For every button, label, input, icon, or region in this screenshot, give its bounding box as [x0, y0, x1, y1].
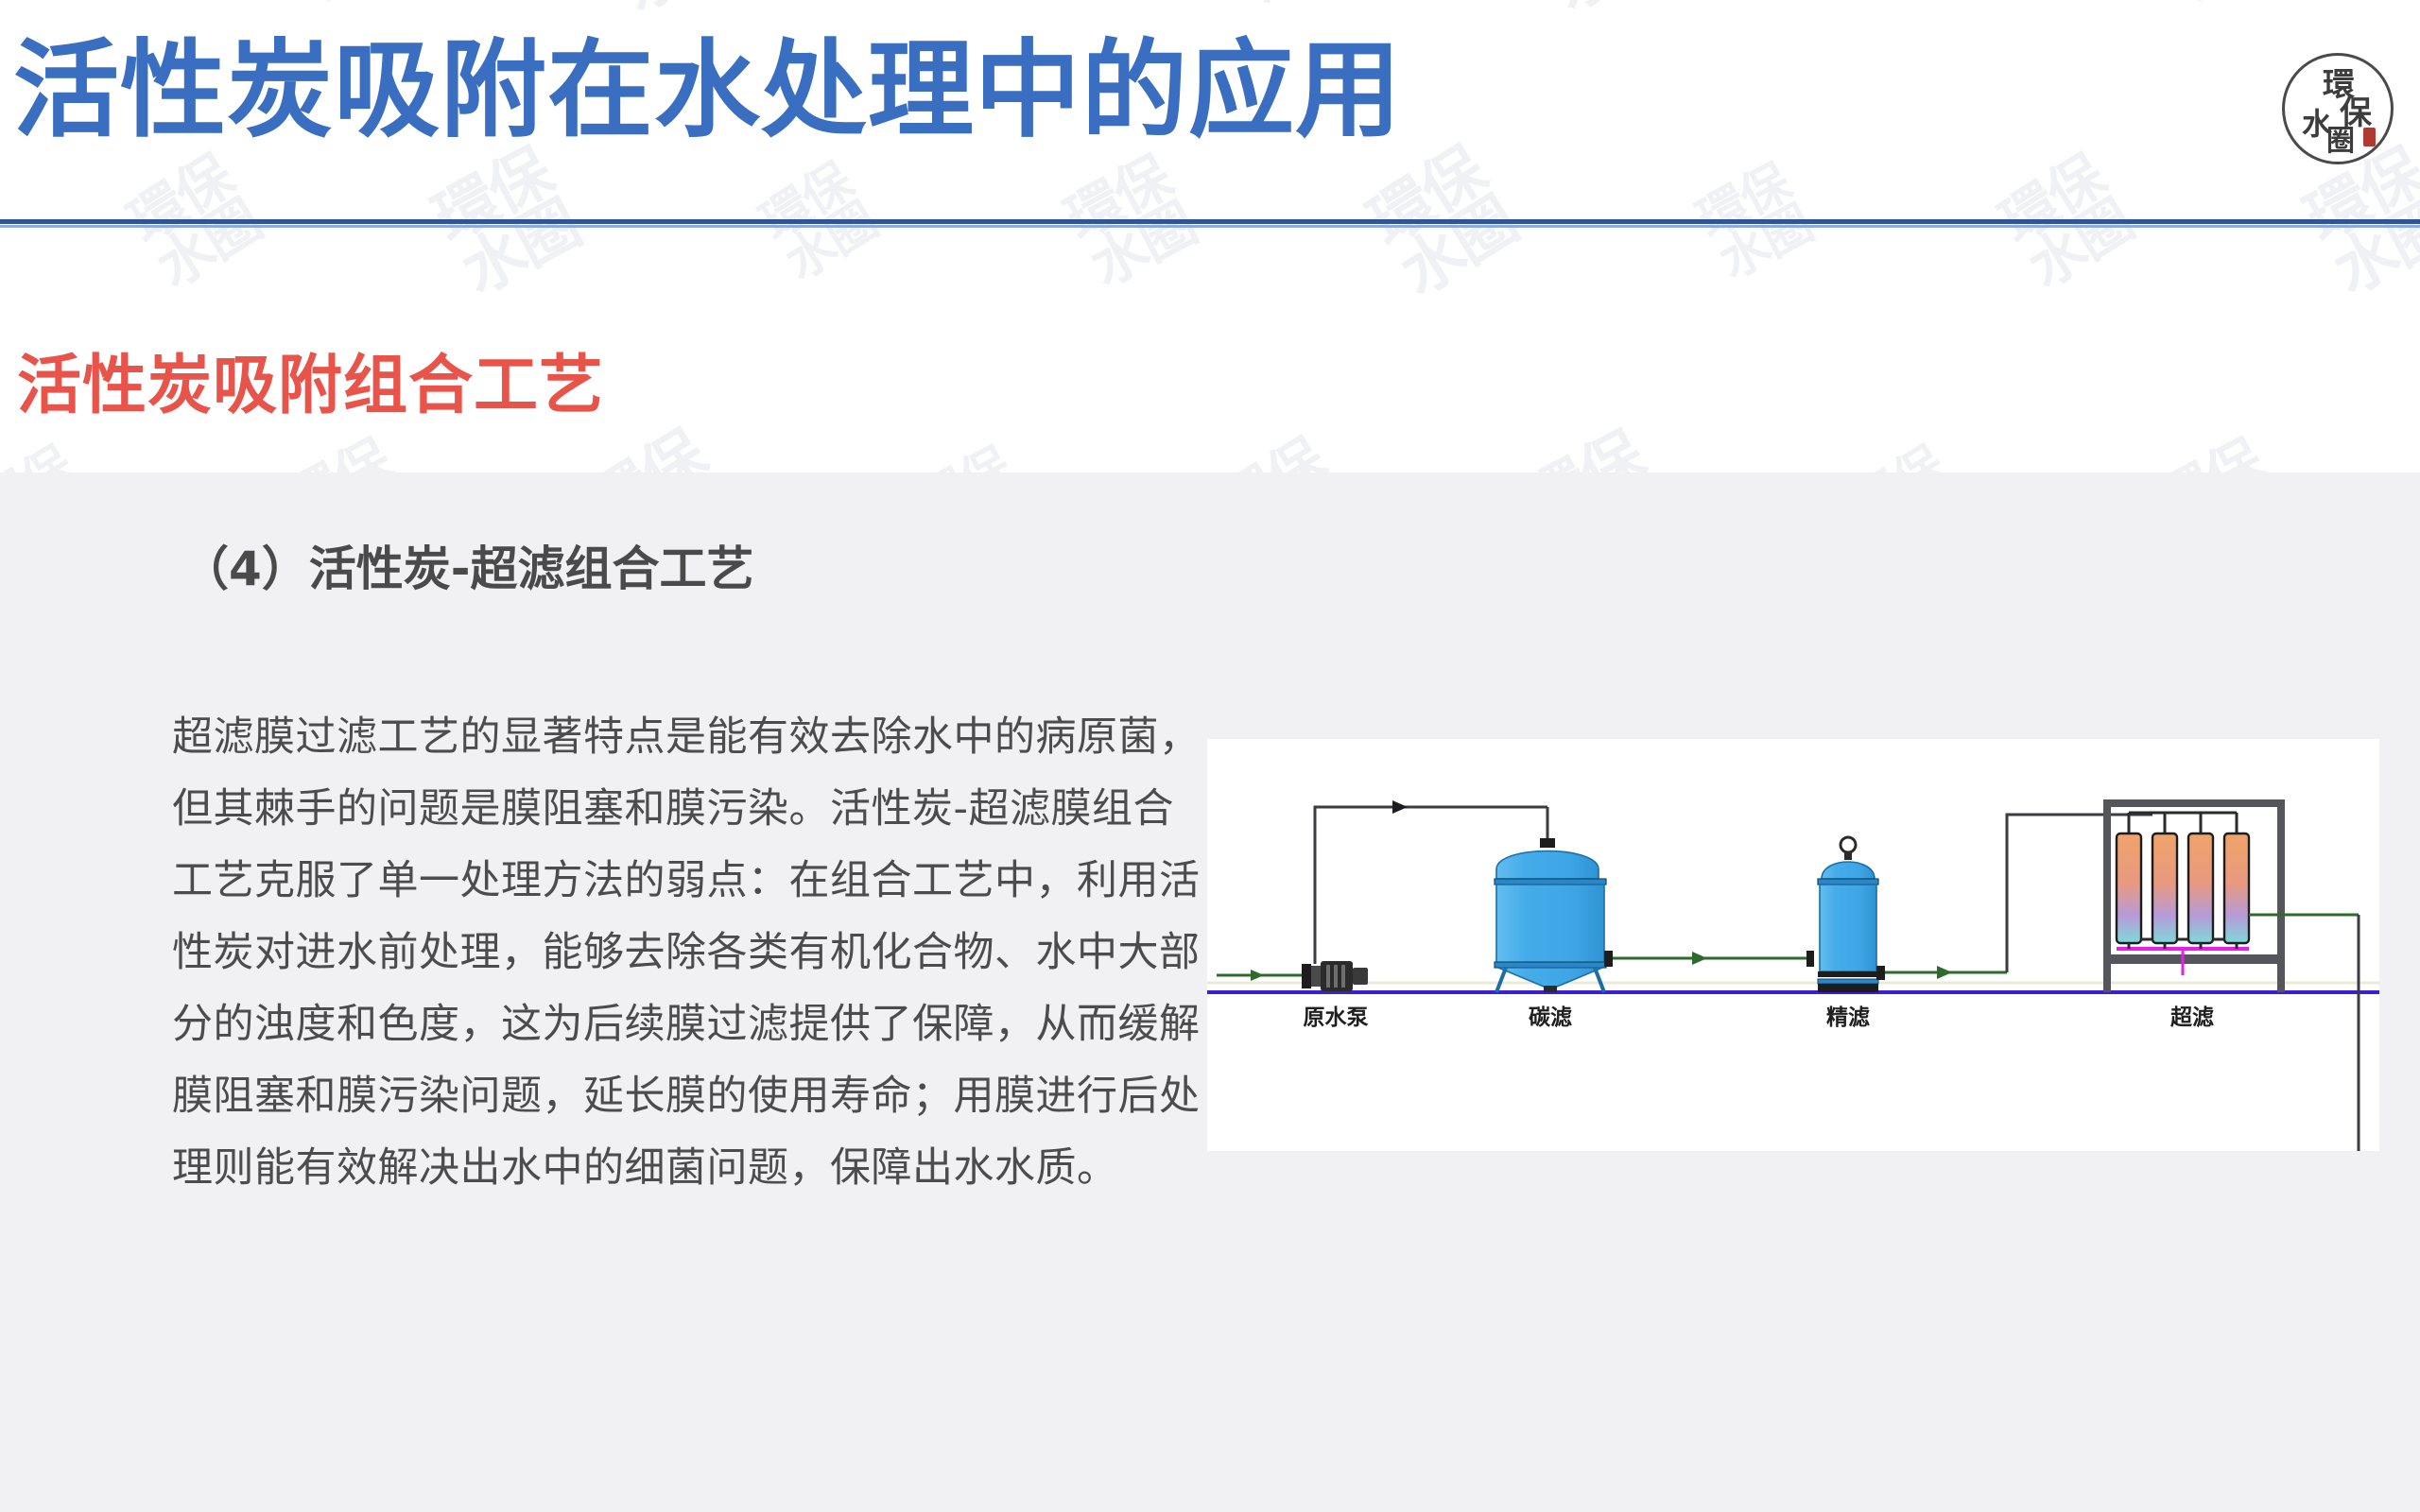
- equipment-label-fine-filter: 精滤: [1826, 1005, 1870, 1030]
- brand-seal-logo: 環 保 水 圈: [2282, 53, 2394, 164]
- body-line: 分的浊度和色度，这为后续膜过滤提供了保障，从而缓解: [172, 988, 1221, 1060]
- seal-char-4: 圈: [2326, 128, 2355, 156]
- ultrafiltration-equipment: [2103, 799, 2285, 992]
- header-divider-bottom: [0, 225, 2420, 228]
- body-line: 性炭对进水前处理，能够去除各类有机化合物、水中大部: [172, 917, 1221, 988]
- equipment-label-ultrafiltration: 超滤: [2170, 1005, 2214, 1030]
- header-divider-top: [0, 219, 2420, 224]
- page-title: 活性炭吸附在水处理中的应用: [13, 38, 1402, 144]
- carbon-filter-equipment: [1495, 838, 1606, 992]
- equipment-label-carbon-filter: 碳滤: [1529, 1005, 1572, 1030]
- slide-header: 活性炭吸附在水处理中的应用: [0, 0, 2420, 236]
- body-line: 膜阻塞和膜污染问题，延长膜的使用寿命；用膜进行后处: [172, 1060, 1221, 1132]
- uf-outlet-pipe: [2249, 915, 2359, 1151]
- content-heading: （4）活性炭-超滤组合工艺: [181, 531, 754, 599]
- body-paragraph: 超滤膜过滤工艺的显著特点是能有效去除水中的病原菌， 但其棘手的问题是膜阻塞和膜污…: [172, 701, 1221, 1204]
- body-line: 理则能有效解决出水中的细菌问题，保障出水水质。: [172, 1132, 1221, 1204]
- section-subtitle: 活性炭吸附组合工艺: [17, 333, 604, 426]
- body-line: 超滤膜过滤工艺的显著特点是能有效去除水中的病原菌，: [172, 701, 1221, 773]
- body-line: 工艺克服了单一处理方法的弱点：在组合工艺中，利用活: [172, 845, 1221, 917]
- equipment-label-raw-water-pump: 原水泵: [1304, 1005, 1369, 1030]
- inlet-flow-arrow-icon: [1251, 970, 1264, 981]
- raw-water-pump-equipment: [1302, 961, 1368, 991]
- brand-seal-inner: 環 保 水 圈: [2285, 56, 2391, 162]
- seal-stamp-icon: [2363, 128, 2376, 146]
- pump-flow-arrow-icon: [1392, 800, 1408, 814]
- body-line: 但其棘手的问题是膜阻塞和膜污染。活性炭-超滤膜组合: [172, 773, 1221, 845]
- carbon-to-fine-pipe: [1604, 951, 1814, 967]
- fine-filter-equipment: [1818, 837, 1878, 992]
- process-flow-figure: 原水泵 碳滤 精滤 超滤: [1207, 739, 2379, 1151]
- header-divider: [0, 219, 2420, 228]
- slide-root: 環保 水圈環保 水圈環保 水圈環保 水圈環保 水圈環保 水圈環保 水圈環保 水圈…: [0, 0, 2420, 1512]
- process-flow-svg: 原水泵 碳滤 精滤 超滤: [1207, 739, 2379, 1151]
